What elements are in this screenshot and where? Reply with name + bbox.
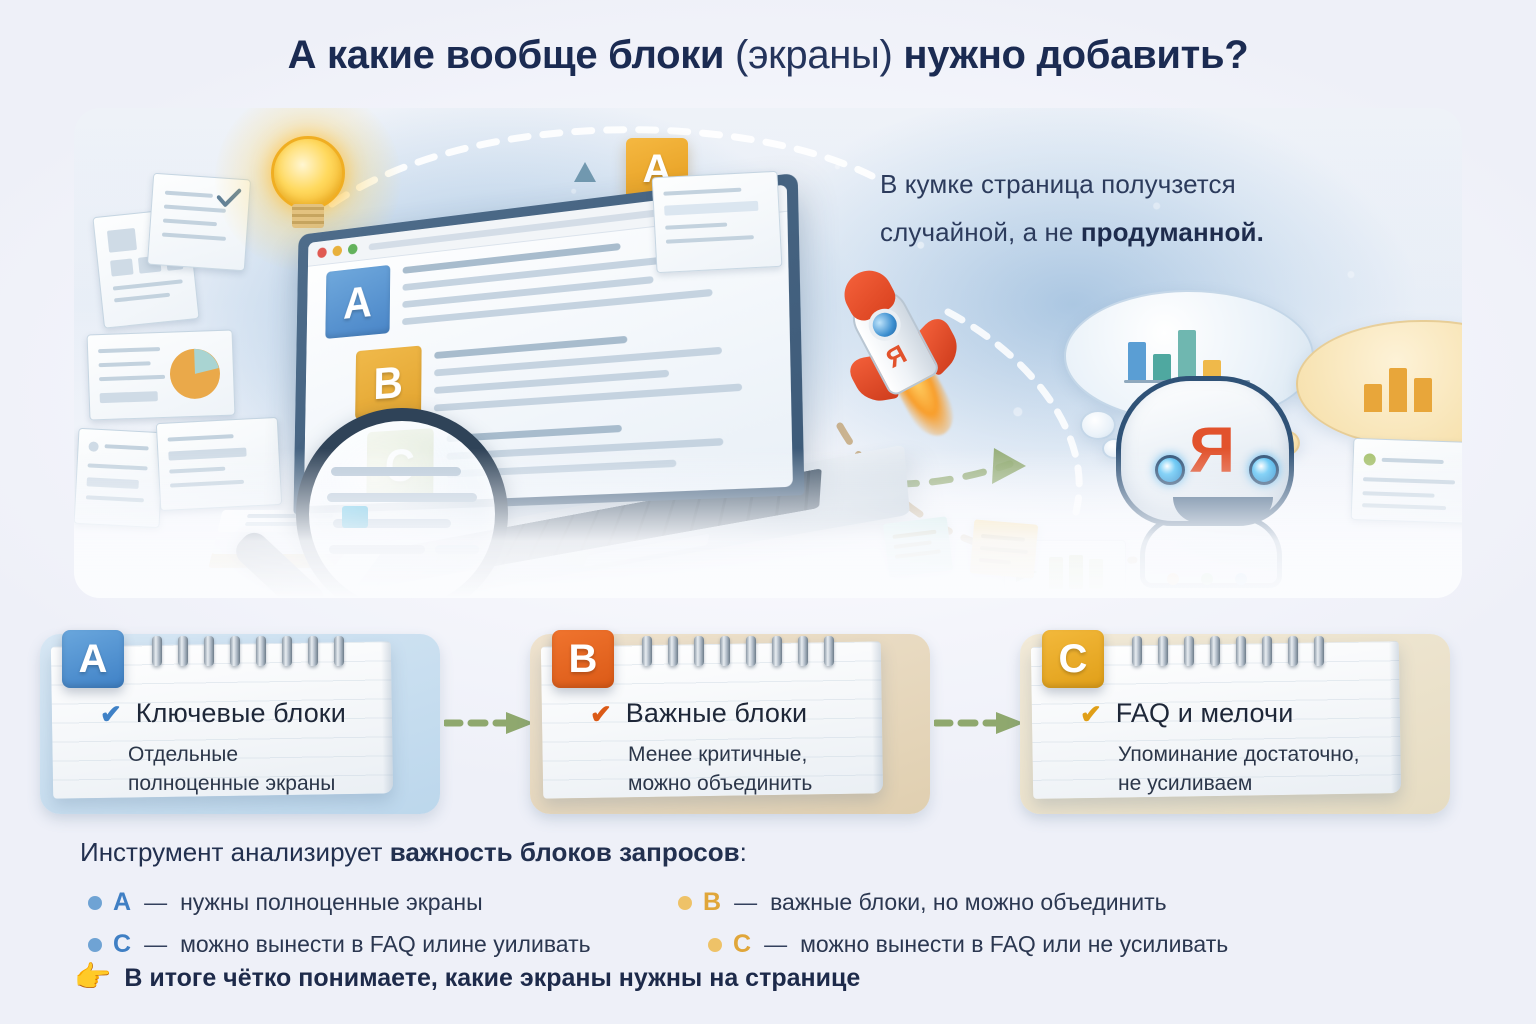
card-a[interactable]: A ✔ Ключевые блоки Отдельные полноценные… <box>40 634 440 814</box>
legend-heading-colon: : <box>740 837 747 867</box>
title-bar: А какие вообще блоки (экраны) нужно доба… <box>0 22 1536 92</box>
title-part-2: (экраны) <box>735 33 892 77</box>
spiral-ring <box>256 636 266 666</box>
legend-dash-a: — <box>144 889 167 916</box>
card-a-header: ✔ Ключевые блоки <box>100 698 346 729</box>
card-a-title: Ключевые блоки <box>136 698 346 729</box>
legend-dash-c-right: — <box>764 931 787 958</box>
legend-row-c-left: C — можно вынести в FAQ илине уиливать <box>88 930 591 959</box>
hero-bottom-fade <box>74 448 1462 598</box>
legend-dash-c-left: — <box>144 931 167 958</box>
document-card-pie <box>87 329 236 420</box>
check-icon: ✔ <box>590 701 612 727</box>
card-c-sub-line-1: Упоминание достаточно, <box>1118 740 1359 769</box>
title-part-1: А какие вообще блоки <box>288 33 735 77</box>
mockup-tile-a: A <box>325 265 390 339</box>
legend-row-a: A — нужны полноценные экраны <box>88 888 483 917</box>
legend-text-a: нужны полноценные экраны <box>180 889 483 916</box>
legend-letter-c-right: C <box>733 930 751 959</box>
card-c-spiral-binding <box>1132 636 1372 666</box>
card-b-spiral-binding <box>642 636 882 666</box>
browser-close-dot <box>317 247 326 258</box>
legend-rows: A — нужны полноценные экраны B — важные … <box>80 882 1460 968</box>
spiral-ring <box>334 636 344 666</box>
legend-bullet-c-right <box>708 938 722 952</box>
spiral-ring <box>152 636 162 666</box>
legend-dash-b: — <box>734 889 757 916</box>
legend-row-b: B — важные блоки, но можно объединить <box>678 888 1167 917</box>
spiral-ring <box>798 636 808 666</box>
legend-text-c-left: можно вынести в FAQ илине уиливать <box>180 931 591 958</box>
intro-line-1: В кумке страница получзется <box>880 160 1400 208</box>
card-b[interactable]: B ✔ Важные блоки Менее критичные, можно … <box>530 634 930 814</box>
legend-text-c-right: можно вынести в FAQ или не усиливать <box>800 931 1228 958</box>
flow-arrow-a-to-b <box>444 710 540 736</box>
final-conclusion: 👉 В итоге чётко понимаете, какие экраны … <box>74 963 860 993</box>
infographic-page: А какие вообще блоки (экраны) нужно доба… <box>0 0 1536 1024</box>
lightbulb-base <box>292 204 324 228</box>
spiral-ring <box>308 636 318 666</box>
spiral-ring <box>720 636 730 666</box>
spiral-ring <box>1184 636 1194 666</box>
spiral-ring <box>230 636 240 666</box>
spiral-ring <box>1314 636 1324 666</box>
spiral-ring <box>282 636 292 666</box>
flow-arrow-b-to-c <box>934 710 1030 736</box>
card-c[interactable]: C ✔ FAQ и мелочи Упоминание достаточно, … <box>1020 634 1450 814</box>
card-b-sub-line-1: Менее критичные, <box>628 740 812 769</box>
spiral-ring <box>204 636 214 666</box>
spiral-ring <box>1210 636 1220 666</box>
pointing-hand-icon: 👉 <box>74 963 111 993</box>
small-triangle-marker <box>572 160 598 186</box>
spiral-ring <box>772 636 782 666</box>
card-c-description: Упоминание достаточно, не усиливаем <box>1118 740 1359 798</box>
intro-text-block: В кумке страница получзется случайной, а… <box>880 160 1400 256</box>
pie-chart-icon <box>166 345 224 403</box>
card-b-sub-line-2: можно объединить <box>628 769 812 798</box>
card-b-badge: B <box>552 630 614 688</box>
card-b-title: Важные блоки <box>626 698 807 729</box>
legend-heading: Инструмент анализирует важность блоков з… <box>80 832 1460 872</box>
legend-bullet-b <box>678 896 692 910</box>
spiral-ring <box>1236 636 1246 666</box>
intro-line-2-plain: случайной, а не <box>880 217 1081 247</box>
legend-bullet-c-left <box>88 938 102 952</box>
legend-row-c-right: C — можно вынести в FAQ или не усиливать <box>708 930 1228 959</box>
card-c-sub-line-2: не усиливаем <box>1118 769 1359 798</box>
bubble-bar-chart-blue <box>1128 326 1221 380</box>
card-a-description: Отдельные полноценные экраны <box>128 740 335 798</box>
card-a-sub-line-2: полноценные экраны <box>128 769 335 798</box>
spiral-ring <box>668 636 678 666</box>
card-c-title: FAQ и мелочи <box>1116 698 1294 729</box>
intro-line-2: случайной, а не продуманной. <box>880 208 1400 256</box>
spiral-ring <box>746 636 756 666</box>
lightbulb-globe <box>271 136 345 210</box>
document-card-top-right <box>652 171 783 273</box>
spiral-ring <box>1262 636 1272 666</box>
card-a-badge: A <box>62 630 124 688</box>
legend-heading-plain: Инструмент анализирует <box>80 837 390 867</box>
spiral-ring <box>178 636 188 666</box>
cards-row: A ✔ Ключевые блоки Отдельные полноценные… <box>40 618 1500 818</box>
card-a-spiral-binding <box>152 636 392 666</box>
legend-text-b: важные блоки, но можно объединить <box>770 889 1167 916</box>
check-icon: ✔ <box>1080 701 1102 727</box>
card-b-description: Менее критичные, можно объединить <box>628 740 812 798</box>
spiral-ring <box>1288 636 1298 666</box>
intro-line-2-bold: продуманной. <box>1081 217 1264 247</box>
spiral-ring <box>824 636 834 666</box>
browser-minimize-dot <box>333 245 343 256</box>
legend-heading-bold: важность блоков запросов <box>390 837 740 867</box>
spiral-ring <box>642 636 652 666</box>
legend-letter-a: A <box>113 888 131 917</box>
legend-bullet-a <box>88 896 102 910</box>
page-title: А какие вообще блоки (экраны) нужно доба… <box>0 22 1536 88</box>
legend-letter-b: B <box>703 888 721 917</box>
spiral-ring <box>1158 636 1168 666</box>
card-b-header: ✔ Важные блоки <box>590 698 807 729</box>
title-part-3: нужно добавить? <box>893 33 1249 77</box>
spiral-ring <box>694 636 704 666</box>
spiral-ring <box>1132 636 1142 666</box>
browser-maximize-dot <box>348 243 358 254</box>
card-c-badge: C <box>1042 630 1104 688</box>
legend-letter-c-left: C <box>113 930 131 959</box>
final-conclusion-text: В итоге чётко понимаете, какие экраны ну… <box>124 964 860 993</box>
card-c-header: ✔ FAQ и мелочи <box>1080 698 1293 729</box>
legend-block: Инструмент анализирует важность блоков з… <box>80 832 1460 968</box>
card-a-sub-line-1: Отдельные <box>128 740 335 769</box>
check-icon: ✔ <box>100 701 122 727</box>
bubble-bar-chart-gold <box>1364 358 1432 412</box>
